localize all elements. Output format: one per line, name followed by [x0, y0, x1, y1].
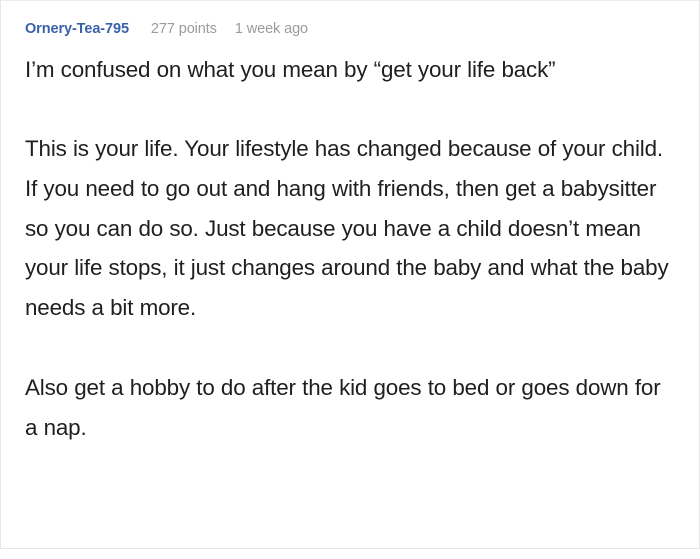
- comment-paragraph: I’m confused on what you mean by “get yo…: [25, 50, 675, 90]
- comment-meta-row: Ornery-Tea-795 277 points 1 week ago: [1, 1, 699, 37]
- comment-author-link[interactable]: Ornery-Tea-795: [25, 22, 129, 37]
- comment-body: I’m confused on what you mean by “get yo…: [1, 50, 699, 448]
- comment-score: 277 points: [151, 22, 217, 37]
- comment-paragraph: Also get a hobby to do after the kid goe…: [25, 368, 675, 448]
- comment-paragraph: This is your life. Your lifestyle has ch…: [25, 129, 675, 328]
- comment-card: Ornery-Tea-795 277 points 1 week ago I’m…: [0, 0, 700, 549]
- comment-timestamp: 1 week ago: [235, 22, 308, 37]
